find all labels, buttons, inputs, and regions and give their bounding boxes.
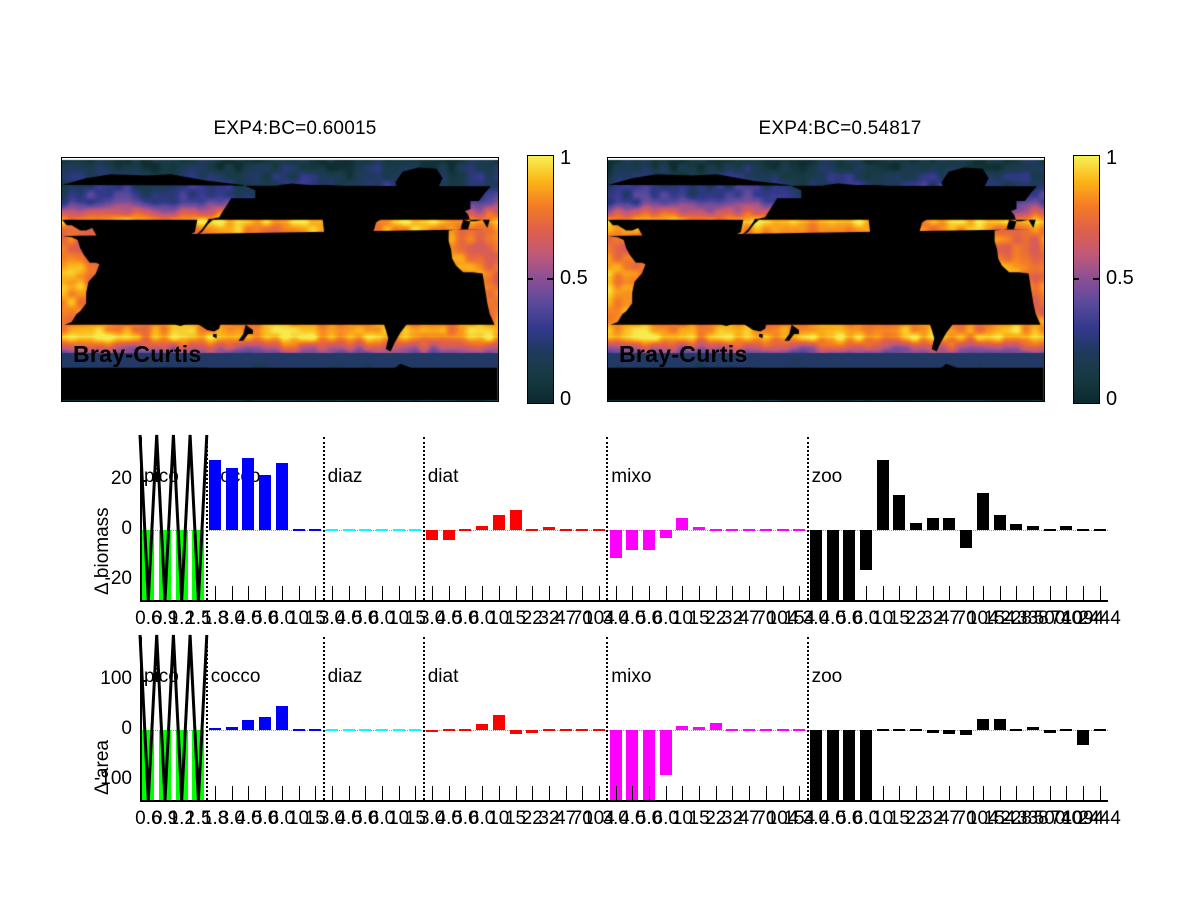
bar-diat-3 bbox=[476, 724, 488, 730]
bar-zoo-17 bbox=[1094, 729, 1106, 731]
bar-diat-9 bbox=[576, 729, 588, 731]
y-tick-label: 0 bbox=[62, 718, 132, 740]
bar-diat-10 bbox=[593, 729, 605, 731]
x-tick bbox=[482, 786, 483, 800]
bar-mixo-4 bbox=[676, 726, 688, 731]
x-tick bbox=[766, 786, 767, 800]
x-tick bbox=[899, 786, 900, 800]
x-tick bbox=[716, 786, 717, 800]
group-separator bbox=[807, 637, 809, 800]
bar-zoo-12 bbox=[1010, 729, 1022, 731]
bar-diat-2 bbox=[459, 729, 471, 731]
x-tick bbox=[799, 786, 800, 800]
bar-diat-5 bbox=[510, 730, 522, 734]
x-tick bbox=[816, 786, 817, 800]
x-tick bbox=[749, 786, 750, 800]
bar-diaz-4 bbox=[393, 729, 405, 731]
x-tick bbox=[432, 786, 433, 800]
x-tick bbox=[632, 786, 633, 800]
bar-zoo-16 bbox=[1077, 730, 1089, 745]
x-tick bbox=[499, 786, 500, 800]
bar-diat-8 bbox=[560, 729, 572, 731]
bar-diaz-1 bbox=[343, 729, 355, 731]
x-tick bbox=[966, 786, 967, 800]
x-tick bbox=[1100, 786, 1101, 800]
bar-zoo-7 bbox=[927, 730, 939, 733]
x-tick bbox=[1066, 786, 1067, 800]
chart-delta-area: -1000100Δ areapico0.60.91.21.5cocco1.83.… bbox=[0, 0, 1200, 900]
x-tick bbox=[299, 786, 300, 800]
bar-mixo-8 bbox=[743, 729, 755, 731]
x-tick bbox=[265, 786, 266, 800]
group-label-mixo: mixo bbox=[611, 666, 651, 688]
x-tick bbox=[315, 786, 316, 800]
bar-cocco-1 bbox=[226, 727, 238, 731]
x-tick bbox=[582, 786, 583, 800]
x-tick bbox=[332, 786, 333, 800]
bar-zoo-8 bbox=[943, 730, 955, 734]
y-axis-label: Δ area bbox=[92, 740, 114, 795]
bar-cocco-2 bbox=[242, 720, 254, 730]
group-separator bbox=[423, 637, 425, 800]
x-tick bbox=[599, 786, 600, 800]
x-tick bbox=[666, 786, 667, 800]
x-tick bbox=[532, 786, 533, 800]
bar-diaz-5 bbox=[409, 729, 421, 731]
bar-mixo-10 bbox=[777, 729, 789, 731]
x-tick bbox=[649, 786, 650, 800]
x-tick bbox=[399, 786, 400, 800]
x-tick bbox=[248, 786, 249, 800]
bar-zoo-6 bbox=[910, 729, 922, 731]
x-tick bbox=[699, 786, 700, 800]
y-tick-label: 100 bbox=[62, 668, 132, 690]
x-tick bbox=[465, 786, 466, 800]
bar-diat-0 bbox=[426, 730, 438, 732]
x-tick bbox=[282, 786, 283, 800]
bar-diat-4 bbox=[493, 715, 505, 730]
x-tick bbox=[215, 786, 216, 800]
axis-break-sawtooth bbox=[140, 635, 213, 802]
group-label-diaz: diaz bbox=[328, 666, 363, 688]
bar-zoo-9 bbox=[960, 730, 972, 735]
bar-cocco-4 bbox=[276, 706, 288, 730]
x-tick bbox=[549, 786, 550, 800]
bar-cocco-6 bbox=[309, 729, 321, 731]
x-tick bbox=[449, 786, 450, 800]
x-tick bbox=[783, 786, 784, 800]
x-tick bbox=[732, 786, 733, 800]
x-tick bbox=[1000, 786, 1001, 800]
x-tick bbox=[1083, 786, 1084, 800]
x-tick bbox=[866, 786, 867, 800]
bar-mixo-3 bbox=[660, 730, 672, 775]
x-tick bbox=[849, 786, 850, 800]
bar-zoo-15 bbox=[1060, 729, 1072, 731]
x-tick bbox=[382, 786, 383, 800]
x-axis-line bbox=[140, 800, 1108, 802]
bar-cocco-3 bbox=[259, 717, 271, 731]
group-separator bbox=[606, 637, 608, 800]
bar-diaz-2 bbox=[359, 729, 371, 731]
bar-cocco-5 bbox=[293, 729, 305, 731]
bar-zoo-10 bbox=[977, 719, 989, 731]
bar-diaz-3 bbox=[376, 729, 388, 731]
x-tick bbox=[349, 786, 350, 800]
bar-mixo-11 bbox=[793, 729, 805, 731]
x-tick bbox=[883, 786, 884, 800]
bar-diat-1 bbox=[443, 729, 455, 731]
bar-diaz-0 bbox=[326, 729, 338, 731]
x-tick bbox=[682, 786, 683, 800]
bar-diat-7 bbox=[543, 729, 555, 731]
x-tick bbox=[566, 786, 567, 800]
bar-mixo-9 bbox=[760, 729, 772, 731]
x-tick bbox=[833, 786, 834, 800]
x-tick bbox=[1033, 786, 1034, 800]
x-tick bbox=[232, 786, 233, 800]
group-label-diat: diat bbox=[428, 666, 459, 688]
group-label-cocco: cocco bbox=[211, 666, 261, 688]
bar-mixo-7 bbox=[726, 729, 738, 731]
x-tick bbox=[1016, 786, 1017, 800]
x-tick bbox=[616, 786, 617, 800]
bar-zoo-14 bbox=[1044, 730, 1056, 733]
bar-mixo-5 bbox=[693, 727, 705, 730]
bar-zoo-13 bbox=[1027, 727, 1039, 730]
bar-zoo-4 bbox=[877, 729, 889, 731]
x-tick bbox=[916, 786, 917, 800]
x-tick-label: 2444 bbox=[1079, 808, 1121, 830]
x-tick bbox=[949, 786, 950, 800]
group-label-zoo: zoo bbox=[812, 666, 843, 688]
x-tick bbox=[516, 786, 517, 800]
x-tick bbox=[415, 786, 416, 800]
group-separator bbox=[323, 637, 325, 800]
bar-zoo-11 bbox=[994, 719, 1006, 731]
x-tick bbox=[933, 786, 934, 800]
x-tick bbox=[365, 786, 366, 800]
x-tick bbox=[983, 786, 984, 800]
bar-diat-6 bbox=[526, 730, 538, 733]
x-tick bbox=[1050, 786, 1051, 800]
bar-mixo-6 bbox=[710, 723, 722, 731]
bar-zoo-5 bbox=[893, 729, 905, 731]
